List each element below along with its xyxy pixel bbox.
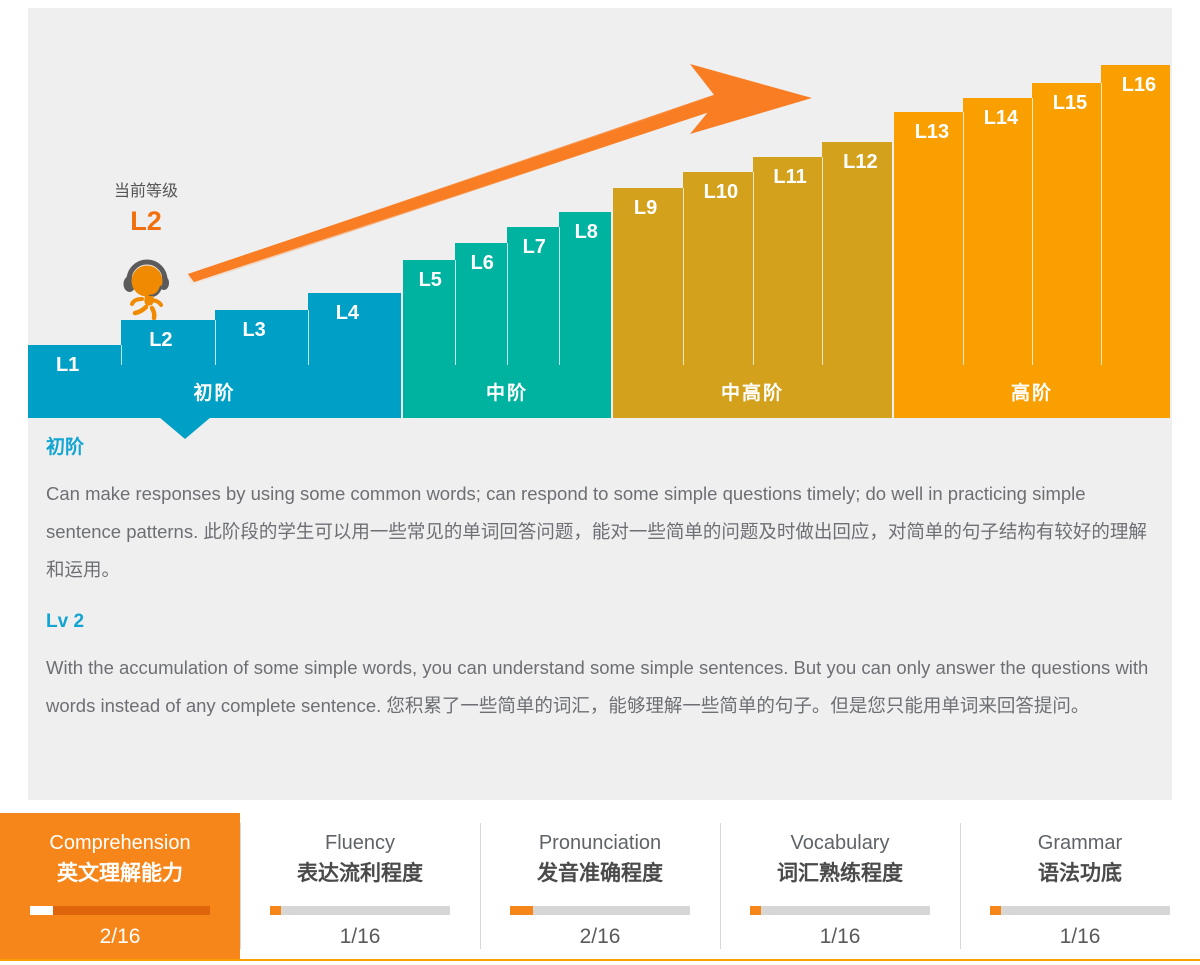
level-bar-label-l13: L13	[915, 121, 949, 144]
level-group-1: L1L2L3L4初阶	[28, 8, 401, 418]
stage-text: Can make responses by using some common …	[46, 475, 1158, 589]
bar-separator	[1101, 83, 1102, 365]
stage-heading: 初阶	[46, 432, 1158, 459]
level-text: With the accumulation of some simple wor…	[46, 649, 1158, 725]
skill-progress-track	[750, 906, 930, 915]
stage-description: 初阶 Can make responses by using some comm…	[46, 432, 1158, 725]
level-bar-label-l7: L7	[523, 236, 546, 259]
bar-separator	[455, 260, 456, 365]
skill-card-row: Comprehension英文理解能力2/16Fluency表达流利程度1/16…	[0, 813, 1200, 961]
running-mascot-icon	[119, 258, 175, 320]
bar-separator	[121, 345, 122, 365]
group-label-1: 初阶	[28, 365, 401, 418]
level-group-3: L9L10L11L12中高阶	[613, 8, 892, 418]
level-bar-label-l2: L2	[149, 329, 172, 352]
skill-progress-fill	[990, 906, 1001, 915]
level-bar-label-l16: L16	[1122, 74, 1156, 97]
bar-separator	[559, 227, 560, 365]
level-bar-chart: L1L2L3L4初阶L5L6L7L8中阶L9L10L11L12中高阶L13L14…	[28, 8, 1172, 418]
bar-separator	[1032, 98, 1033, 365]
skill-progress-fill	[750, 906, 761, 915]
skill-progress-track	[270, 906, 450, 915]
skill-score: 1/16	[1060, 925, 1101, 949]
skill-name-cn: 语法功底	[1038, 859, 1122, 889]
level-bar-label-l11: L11	[773, 166, 806, 189]
skill-progress-fill	[270, 906, 281, 915]
skill-name-en: Fluency	[325, 830, 395, 857]
skill-name-cn: 词汇熟练程度	[777, 859, 903, 889]
skill-score: 1/16	[340, 925, 381, 949]
skill-name-en: Comprehension	[49, 830, 190, 857]
skill-name-cn: 表达流利程度	[297, 859, 423, 889]
level-bar-label-l14: L14	[984, 107, 1018, 130]
skill-name-cn: 发音准确程度	[537, 859, 663, 889]
skill-score: 2/16	[580, 925, 621, 949]
skill-score: 2/16	[100, 925, 141, 949]
skill-name-en: Pronunciation	[539, 830, 661, 857]
bar-separator	[683, 188, 684, 365]
level-bar-label-l5: L5	[419, 269, 442, 292]
skill-card-pronunciation[interactable]: Pronunciation发音准确程度2/16	[480, 813, 720, 959]
skill-name-en: Grammar	[1038, 830, 1122, 857]
group-label-4: 高阶	[894, 365, 1170, 418]
skill-card-vocabulary[interactable]: Vocabulary词汇熟练程度1/16	[720, 813, 960, 959]
level-group-2: L5L6L7L8中阶	[403, 8, 611, 418]
bar-separator	[308, 310, 309, 365]
level-bar-label-l8: L8	[575, 221, 598, 244]
bar-separator	[822, 157, 823, 365]
skill-card-fluency[interactable]: Fluency表达流利程度1/16	[240, 813, 480, 959]
level-bar-label-l9: L9	[634, 197, 657, 220]
bar-separator	[215, 320, 216, 365]
level-bar-label-l4: L4	[336, 302, 359, 325]
group-label-3: 中高阶	[613, 365, 892, 418]
level-bar-label-l12: L12	[843, 151, 877, 174]
level-bar-label-l3: L3	[242, 319, 265, 342]
skill-card-grammar[interactable]: Grammar语法功底1/16	[960, 813, 1200, 959]
skill-progress-track	[30, 906, 210, 915]
skill-name-en: Vocabulary	[791, 830, 890, 857]
level-report-page: L1L2L3L4初阶L5L6L7L8中阶L9L10L11L12中高阶L13L14…	[0, 0, 1200, 965]
level-bar-label-l15: L15	[1053, 92, 1087, 115]
level-heading: Lv 2	[46, 611, 1158, 633]
skill-progress-track	[990, 906, 1170, 915]
bar-separator	[753, 172, 754, 365]
bar-separator	[963, 112, 964, 365]
level-bar-label-l6: L6	[471, 252, 494, 275]
group-label-2: 中阶	[403, 365, 611, 418]
bar-separator	[507, 243, 508, 365]
skill-name-cn: 英文理解能力	[57, 859, 183, 889]
skill-card-comprehension[interactable]: Comprehension英文理解能力2/16	[0, 813, 240, 959]
level-group-4: L13L14L15L16高阶	[894, 8, 1170, 418]
skill-progress-track	[510, 906, 690, 915]
level-bar-label-l10: L10	[704, 181, 738, 204]
skill-progress-fill	[510, 906, 533, 915]
skill-score: 1/16	[820, 925, 861, 949]
skill-progress-fill	[30, 906, 53, 915]
